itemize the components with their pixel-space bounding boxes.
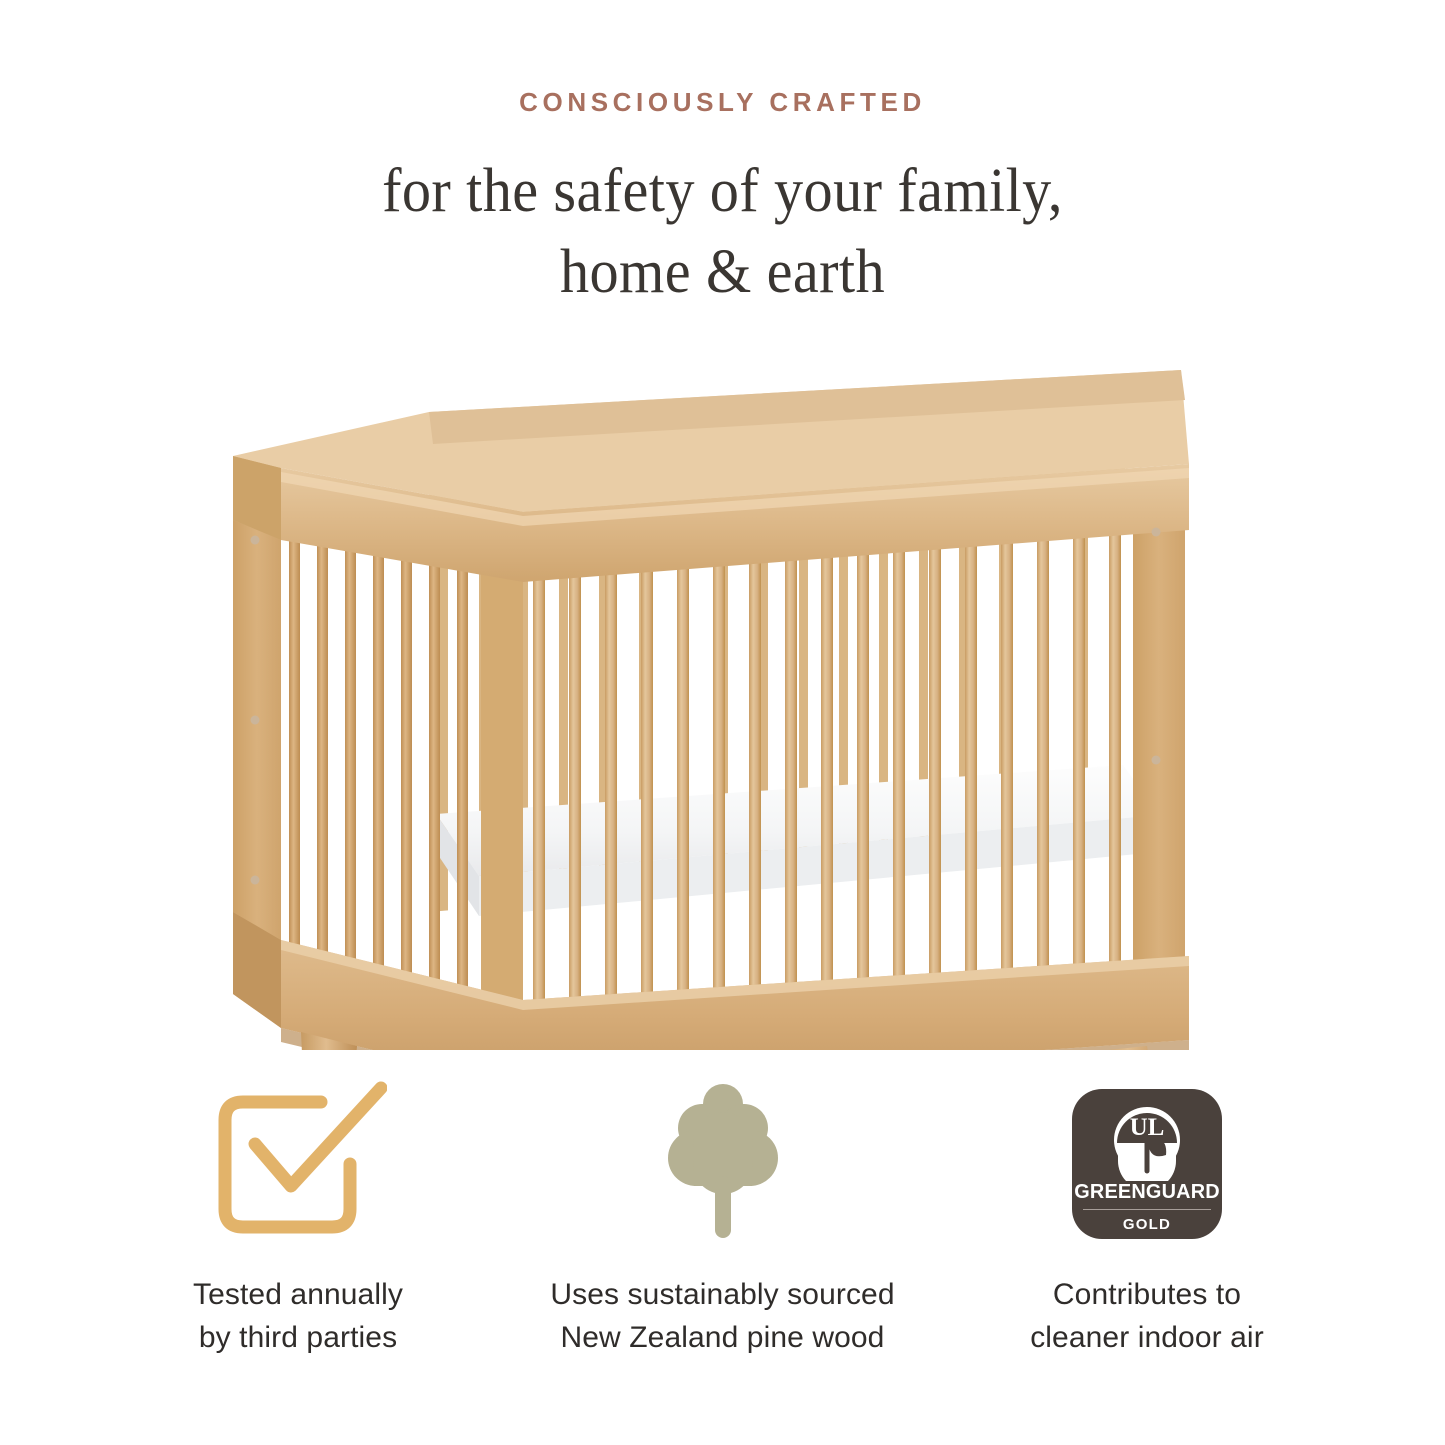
feature-caption-line-2: New Zealand pine wood <box>550 1317 894 1360</box>
feature-item-greenguard-gold: UL GREENGUARD GOLD Contributes to cleane… <box>967 1078 1327 1359</box>
feature-caption: Tested annually by third parties <box>193 1274 403 1359</box>
badge-tier-label: GOLD <box>1123 1217 1171 1232</box>
feature-caption-line-1: Tested annually <box>193 1274 403 1317</box>
feature-caption-line-1: Uses sustainably sourced <box>550 1274 894 1317</box>
greenguard-gold-badge-icon: UL GREENGUARD GOLD <box>1072 1089 1222 1239</box>
ul-certification-mark-icon: UL <box>1106 1099 1188 1181</box>
feature-icon-wrapper <box>658 1078 788 1250</box>
feature-list: Tested annually by third parties <box>0 1078 1445 1359</box>
crib-foot-stile <box>1133 476 1185 986</box>
page-title: for the safety of your family, home & ea… <box>0 151 1445 315</box>
eyebrow-label: CONSCIOUSLY CRAFTED <box>0 88 1445 117</box>
headline-line-2: home & earth <box>43 232 1401 314</box>
product-image <box>0 360 1445 1060</box>
badge-name-label: GREENGUARD <box>1074 1182 1220 1203</box>
feature-caption-line-1: Contributes to <box>1030 1274 1264 1317</box>
feature-item-sustainable-wood: Uses sustainably sourced New Zealand pin… <box>543 1078 903 1359</box>
crib-group <box>233 370 1189 1050</box>
headline-line-1: for the safety of your family, <box>43 151 1401 233</box>
feature-item-tested-annually: Tested annually by third parties <box>118 1078 478 1359</box>
feature-caption: Uses sustainably sourced New Zealand pin… <box>550 1274 894 1359</box>
checkbox-check-icon <box>209 1080 387 1248</box>
promo-page: CONSCIOUSLY CRAFTED for the safety of yo… <box>0 0 1445 1445</box>
header: CONSCIOUSLY CRAFTED for the safety of yo… <box>0 0 1445 314</box>
crib-illustration <box>193 360 1253 1050</box>
feature-icon-wrapper <box>209 1078 387 1250</box>
feature-caption: Contributes to cleaner indoor air <box>1030 1274 1264 1359</box>
feature-caption-line-2: by third parties <box>193 1317 403 1360</box>
tree-icon <box>658 1080 788 1248</box>
badge-divider <box>1083 1209 1211 1211</box>
feature-icon-wrapper: UL GREENGUARD GOLD <box>1072 1078 1222 1250</box>
feature-caption-line-2: cleaner indoor air <box>1030 1317 1264 1360</box>
